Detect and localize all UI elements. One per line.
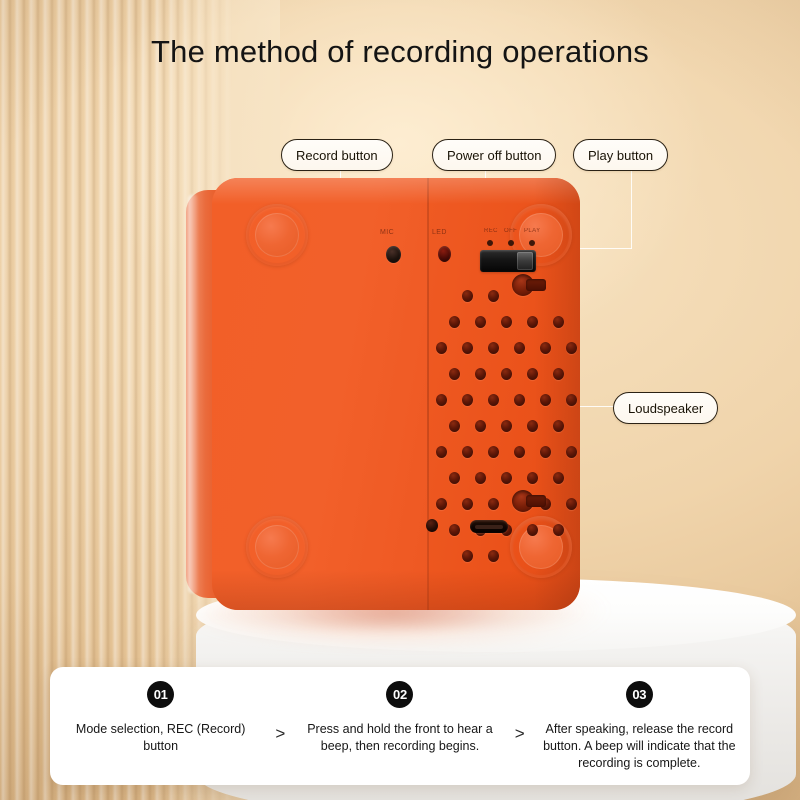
- speaker-hole: [514, 446, 525, 458]
- speaker-hole: [540, 446, 551, 458]
- speaker-hole: [566, 394, 577, 406]
- device-body: MIC LED REC OFF PLAY: [212, 178, 580, 610]
- speaker-hole: [514, 394, 525, 406]
- speaker-hole: [501, 316, 512, 328]
- speaker-hole: [514, 342, 525, 354]
- speaker-hole: [501, 368, 512, 380]
- silkscreen-led-label: LED: [432, 229, 447, 236]
- speaker-hole: [475, 472, 486, 484]
- step-01-badge: 01: [147, 681, 174, 708]
- rubber-foot-top-left: [246, 204, 308, 266]
- speaker-hole: [462, 446, 473, 458]
- step-separator-1: >: [267, 667, 293, 785]
- instruction-steps-panel: 01 Mode selection, REC (Record) button >…: [50, 667, 750, 785]
- speaker-hole: [501, 472, 512, 484]
- switch-position-dot-rec: [487, 240, 493, 246]
- usb-c-port: [470, 520, 508, 533]
- speaker-hole: [436, 446, 447, 458]
- speaker-hole: [488, 550, 499, 562]
- speaker-hole: [449, 472, 460, 484]
- speaker-hole: [553, 316, 564, 328]
- speaker-hole: [553, 524, 564, 536]
- speaker-hole: [462, 498, 473, 510]
- callout-power-off-button[interactable]: Power off button: [432, 139, 556, 171]
- device-top-highlight: [212, 178, 580, 204]
- keyhole-slot: [526, 279, 546, 291]
- speaker-hole: [488, 290, 499, 302]
- speaker-hole: [566, 498, 577, 510]
- silkscreen-play-label: PLAY: [524, 228, 541, 234]
- callout-speaker-label: Loudspeaker: [628, 401, 703, 416]
- rubber-foot-bottom-left: [246, 516, 308, 578]
- speaker-hole: [488, 498, 499, 510]
- step-01: 01 Mode selection, REC (Record) button: [54, 667, 267, 785]
- speaker-hole: [501, 420, 512, 432]
- speaker-hole: [527, 368, 538, 380]
- silkscreen-off-label: OFF: [504, 228, 517, 234]
- speaker-hole: [553, 368, 564, 380]
- mode-slide-switch[interactable]: [480, 250, 536, 272]
- step-separator-2: >: [507, 667, 533, 785]
- reset-pinhole: [426, 519, 438, 532]
- speaker-hole: [449, 524, 460, 536]
- device-side-highlight: [188, 194, 198, 594]
- speaker-hole: [566, 342, 577, 354]
- speaker-hole: [449, 316, 460, 328]
- speaker-hole: [462, 342, 473, 354]
- speaker-hole: [462, 290, 473, 302]
- speaker-hole: [449, 368, 460, 380]
- product-device: MIC LED REC OFF PLAY: [186, 178, 580, 610]
- speaker-hole: [527, 420, 538, 432]
- speaker-hole: [553, 472, 564, 484]
- speaker-hole: [540, 394, 551, 406]
- silkscreen-mic-label: MIC: [380, 229, 394, 236]
- page-title: The method of recording operations: [0, 34, 800, 70]
- step-02-badge: 02: [386, 681, 413, 708]
- device-seam: [427, 178, 429, 610]
- switch-position-dot-off: [508, 240, 514, 246]
- step-02-text: Press and hold the front to hear a beep,…: [293, 721, 506, 755]
- speaker-hole: [527, 316, 538, 328]
- microphone-hole: [386, 246, 401, 263]
- speaker-hole: [540, 342, 551, 354]
- callout-play-button[interactable]: Play button: [573, 139, 668, 171]
- speaker-hole: [527, 472, 538, 484]
- loudspeaker-grille: [436, 290, 580, 558]
- speaker-hole: [488, 342, 499, 354]
- led-indicator: [438, 246, 451, 262]
- callout-power-label: Power off button: [447, 148, 541, 163]
- callout-record-button[interactable]: Record button: [281, 139, 393, 171]
- step-03-badge: 03: [626, 681, 653, 708]
- speaker-hole: [436, 498, 447, 510]
- step-03: 03 After speaking, release the record bu…: [533, 667, 746, 785]
- silkscreen-rec-label: REC: [484, 228, 498, 234]
- speaker-hole: [436, 394, 447, 406]
- infographic-scene: The method of recording operations Recor…: [0, 0, 800, 800]
- callout-loudspeaker[interactable]: Loudspeaker: [613, 392, 718, 424]
- speaker-hole: [462, 550, 473, 562]
- speaker-hole: [449, 420, 460, 432]
- callout-play-label: Play button: [588, 148, 653, 163]
- speaker-hole: [475, 316, 486, 328]
- speaker-hole: [488, 394, 499, 406]
- wall-mount-keyhole-top: [512, 274, 546, 300]
- callout-record-label: Record button: [296, 148, 378, 163]
- speaker-hole: [475, 420, 486, 432]
- speaker-hole: [436, 342, 447, 354]
- keyhole-slot: [526, 495, 546, 507]
- step-03-text: After speaking, release the record butto…: [533, 721, 746, 772]
- speaker-hole: [462, 394, 473, 406]
- slide-switch-knob[interactable]: [517, 252, 533, 270]
- device-panel-left: [212, 178, 428, 610]
- step-01-text: Mode selection, REC (Record) button: [54, 721, 267, 755]
- switch-position-dot-play: [529, 240, 535, 246]
- step-02: 02 Press and hold the front to hear a be…: [293, 667, 506, 785]
- speaker-hole: [566, 446, 577, 458]
- leader-line-play-vertical: [631, 169, 632, 249]
- speaker-hole: [553, 420, 564, 432]
- wall-mount-keyhole-bottom: [512, 490, 546, 516]
- speaker-hole: [488, 446, 499, 458]
- speaker-hole: [475, 368, 486, 380]
- speaker-hole: [527, 524, 538, 536]
